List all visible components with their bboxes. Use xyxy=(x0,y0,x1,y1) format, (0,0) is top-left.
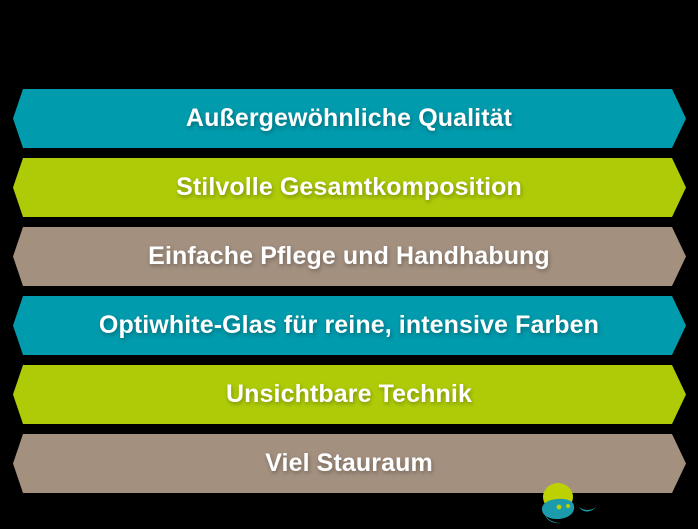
feature-banner-list: Außergewöhnliche Qualität Stilvolle Gesa… xyxy=(0,89,698,493)
slide-canvas: Außergewöhnliche Qualität Stilvolle Gesa… xyxy=(0,0,698,524)
feature-banner[interactable]: Optiwhite-Glas für reine, intensive Farb… xyxy=(0,296,698,355)
brand-logo xyxy=(534,482,598,524)
swoosh-shape xyxy=(579,507,596,512)
feature-banner-label: Unsichtbare Technik xyxy=(190,382,508,407)
feature-banner[interactable]: Einfache Pflege und Handhabung xyxy=(0,227,698,286)
feature-banner-label: Außergewöhnliche Qualität xyxy=(150,106,548,131)
feature-banner[interactable]: Außergewöhnliche Qualität xyxy=(0,89,698,148)
feature-banner-label: Stilvolle Gesamtkomposition xyxy=(140,175,558,200)
feature-banner-label: Einfache Pflege und Handhabung xyxy=(112,244,586,269)
bird-eye-highlight-icon xyxy=(566,504,570,508)
feature-banner[interactable]: Unsichtbare Technik xyxy=(0,365,698,424)
feature-banner[interactable]: Stilvolle Gesamtkomposition xyxy=(0,158,698,217)
feature-banner-label: Optiwhite-Glas für reine, intensive Farb… xyxy=(63,313,635,338)
bird-eye-icon xyxy=(557,505,562,510)
feature-banner-label: Viel Stauraum xyxy=(229,451,469,476)
